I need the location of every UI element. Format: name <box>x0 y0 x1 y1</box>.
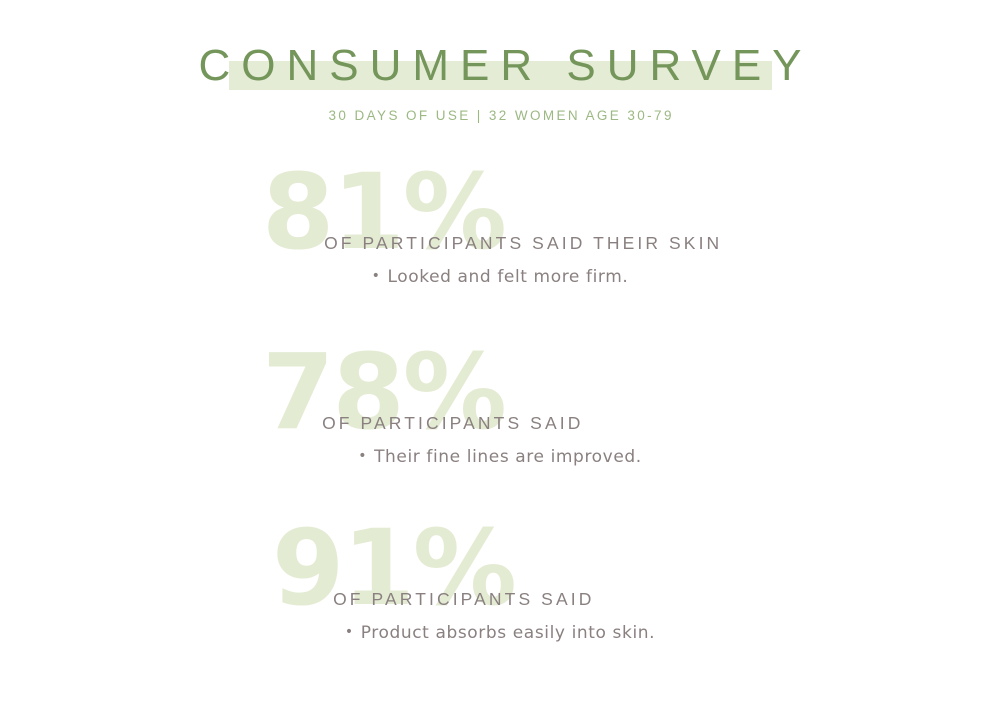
stat-headline-3: OF PARTICIPANTS SAID <box>330 589 594 610</box>
bullet-dot-icon: • <box>372 268 381 284</box>
stat-bullet-3: •Product absorbs easily into skin. <box>0 623 1000 643</box>
stat-bullet-2: •Their fine lines are improved. <box>0 447 1000 467</box>
stat-bullet-text-3: Product absorbs easily into skin. <box>361 623 655 643</box>
bullet-dot-icon: • <box>358 448 367 464</box>
stat-bullet-text-1: Looked and felt more firm. <box>387 267 628 287</box>
bullet-dot-icon: • <box>345 624 354 640</box>
title-block: CONSUMER SURVEY <box>0 38 1000 100</box>
survey-poster: CONSUMER SURVEY 30 DAYS OF USE | 32 WOME… <box>0 0 1000 719</box>
stat-bullet-1: •Looked and felt more firm. <box>0 267 1000 287</box>
page-subtitle: 30 DAYS OF USE | 32 WOMEN AGE 30-79 <box>0 108 1000 123</box>
stat-headline-2: OF PARTICIPANTS SAID <box>319 413 583 434</box>
stat-headline-1: OF PARTICIPANTS SAID THEIR SKIN <box>321 233 722 254</box>
page-title: CONSUMER SURVEY <box>0 38 1000 94</box>
stat-bullet-text-2: Their fine lines are improved. <box>374 447 642 467</box>
